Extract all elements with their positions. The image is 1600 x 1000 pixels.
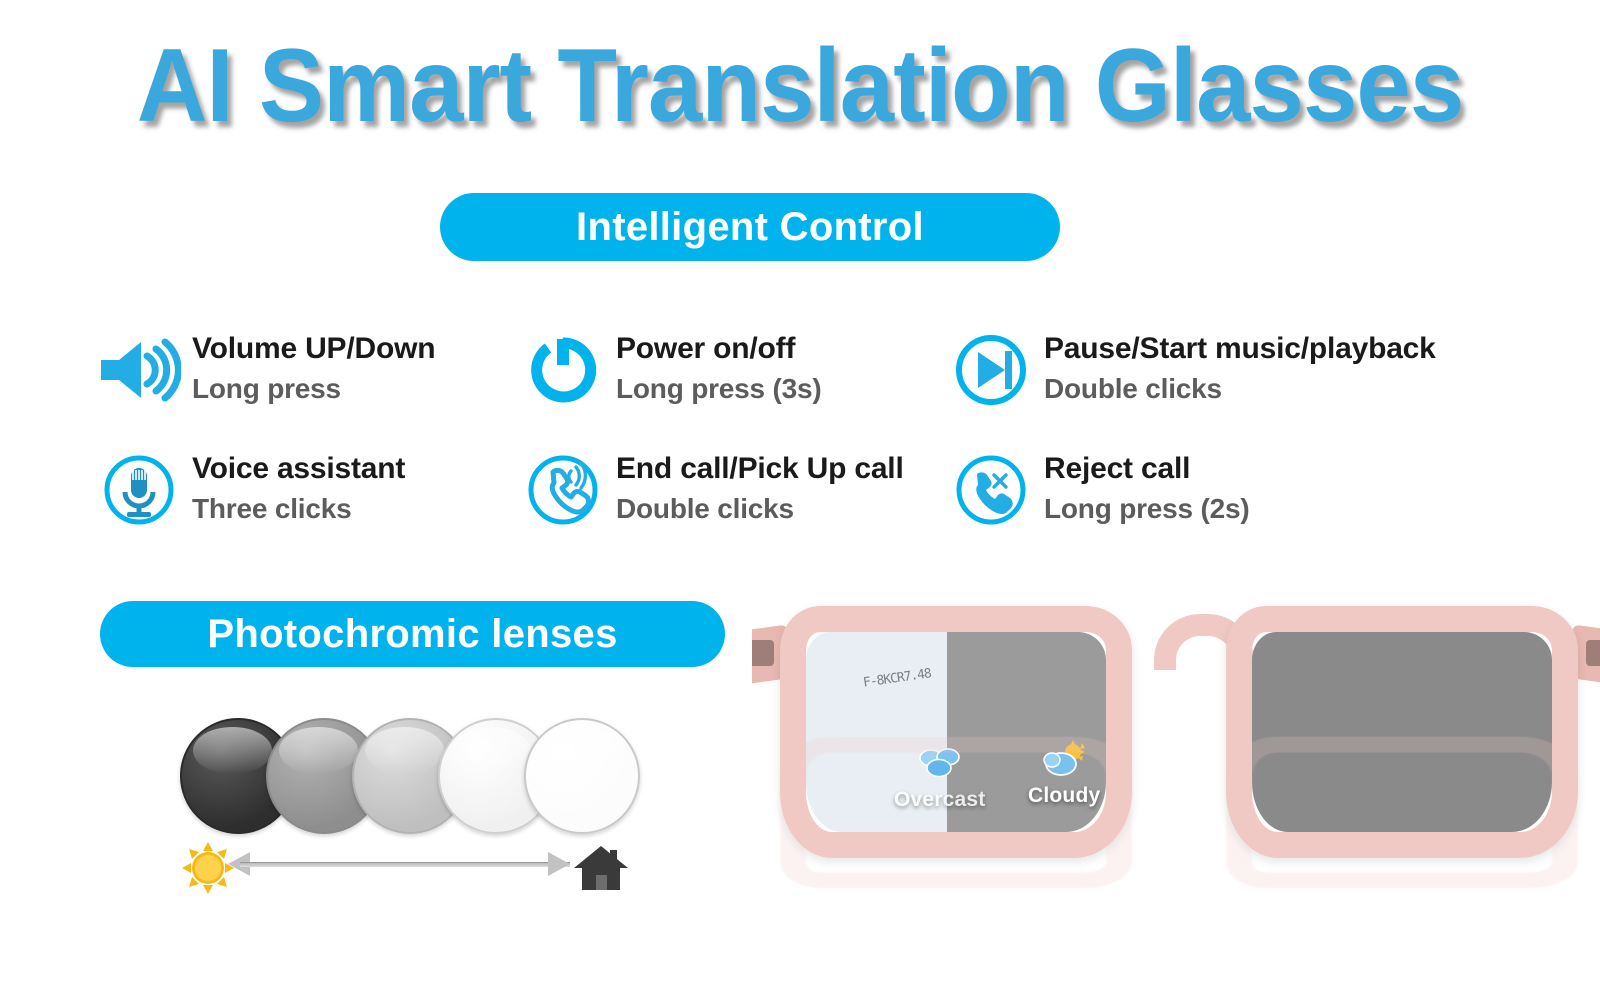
- lens-highlight: [279, 727, 357, 774]
- microphone-icon: [96, 450, 182, 530]
- skip-next-icon: [948, 330, 1034, 410]
- power-icon: [520, 330, 606, 410]
- arrow-head-right: [548, 852, 570, 876]
- feature-voice-assistant: Voice assistant Three clicks: [96, 450, 405, 530]
- feature-subtitle: Three clicks: [192, 492, 405, 526]
- reflection-rim-right: [1226, 737, 1578, 888]
- page-title: AI Smart Translation Glasses: [48, 34, 1552, 138]
- feature-subtitle: Long press: [192, 372, 435, 406]
- feature-subtitle: Double clicks: [616, 492, 904, 526]
- glasses-reflection: [780, 798, 1580, 888]
- feature-subtitle: Long press (3s): [616, 372, 821, 406]
- lens-highlight: [193, 727, 271, 774]
- lens-highlight: [365, 727, 443, 774]
- phone-ring-icon: [520, 450, 606, 530]
- speaker-volume-icon: [96, 330, 182, 410]
- feature-title: End call/Pick Up call: [616, 452, 904, 486]
- feature-text: Voice assistant Three clicks: [182, 450, 405, 525]
- phone-reject-icon: [948, 450, 1034, 530]
- feature-text: Volume UP/Down Long press: [182, 330, 435, 405]
- feature-title: Voice assistant: [192, 452, 405, 486]
- reflection-rim-left: [780, 737, 1132, 888]
- feature-title: Pause/Start music/playback: [1044, 332, 1436, 366]
- house-icon: [572, 842, 630, 894]
- photochromic-lens-strip: [180, 718, 640, 838]
- feature-text: Power on/off Long press (3s): [606, 330, 821, 405]
- feature-subtitle: Long press (2s): [1044, 492, 1249, 526]
- glasses-front-view: F-8KCR7.48 Overcast: [752, 588, 1600, 888]
- lens-transition-arrow-row: [180, 838, 640, 894]
- feature-title: Reject call: [1044, 452, 1249, 486]
- product-photo-glasses: F-8KCR7.48 Overcast: [752, 588, 1600, 1000]
- hinge-left: [752, 640, 774, 666]
- feature-reject-call: Reject call Long press (2s): [948, 450, 1249, 530]
- feature-text: End call/Pick Up call Double clicks: [606, 450, 904, 525]
- feature-end-pickup-call: End call/Pick Up call Double clicks: [520, 450, 904, 530]
- arrow-line: [240, 862, 570, 867]
- feature-title: Power on/off: [616, 332, 821, 366]
- section-badge-photochromic-lenses: Photochromic lenses: [100, 601, 725, 667]
- feature-playback: Pause/Start music/playback Double clicks: [948, 330, 1436, 410]
- lens-disc-5: [524, 718, 640, 834]
- feature-text: Pause/Start music/playback Double clicks: [1034, 330, 1436, 405]
- feature-subtitle: Double clicks: [1044, 372, 1436, 406]
- feature-title: Volume UP/Down: [192, 332, 435, 366]
- feature-text: Reject call Long press (2s): [1034, 450, 1249, 525]
- infographic-page: AI Smart Translation Glasses Intelligent…: [0, 0, 1600, 1000]
- hinge-right: [1586, 640, 1600, 666]
- lens-highlight: [537, 727, 615, 774]
- lens-barcode-label: F-8KCR7.48: [862, 661, 976, 710]
- feature-volume: Volume UP/Down Long press: [96, 330, 435, 410]
- section-badge-intelligent-control: Intelligent Control: [440, 193, 1060, 261]
- feature-power: Power on/off Long press (3s): [520, 330, 821, 410]
- lens-highlight: [451, 727, 529, 774]
